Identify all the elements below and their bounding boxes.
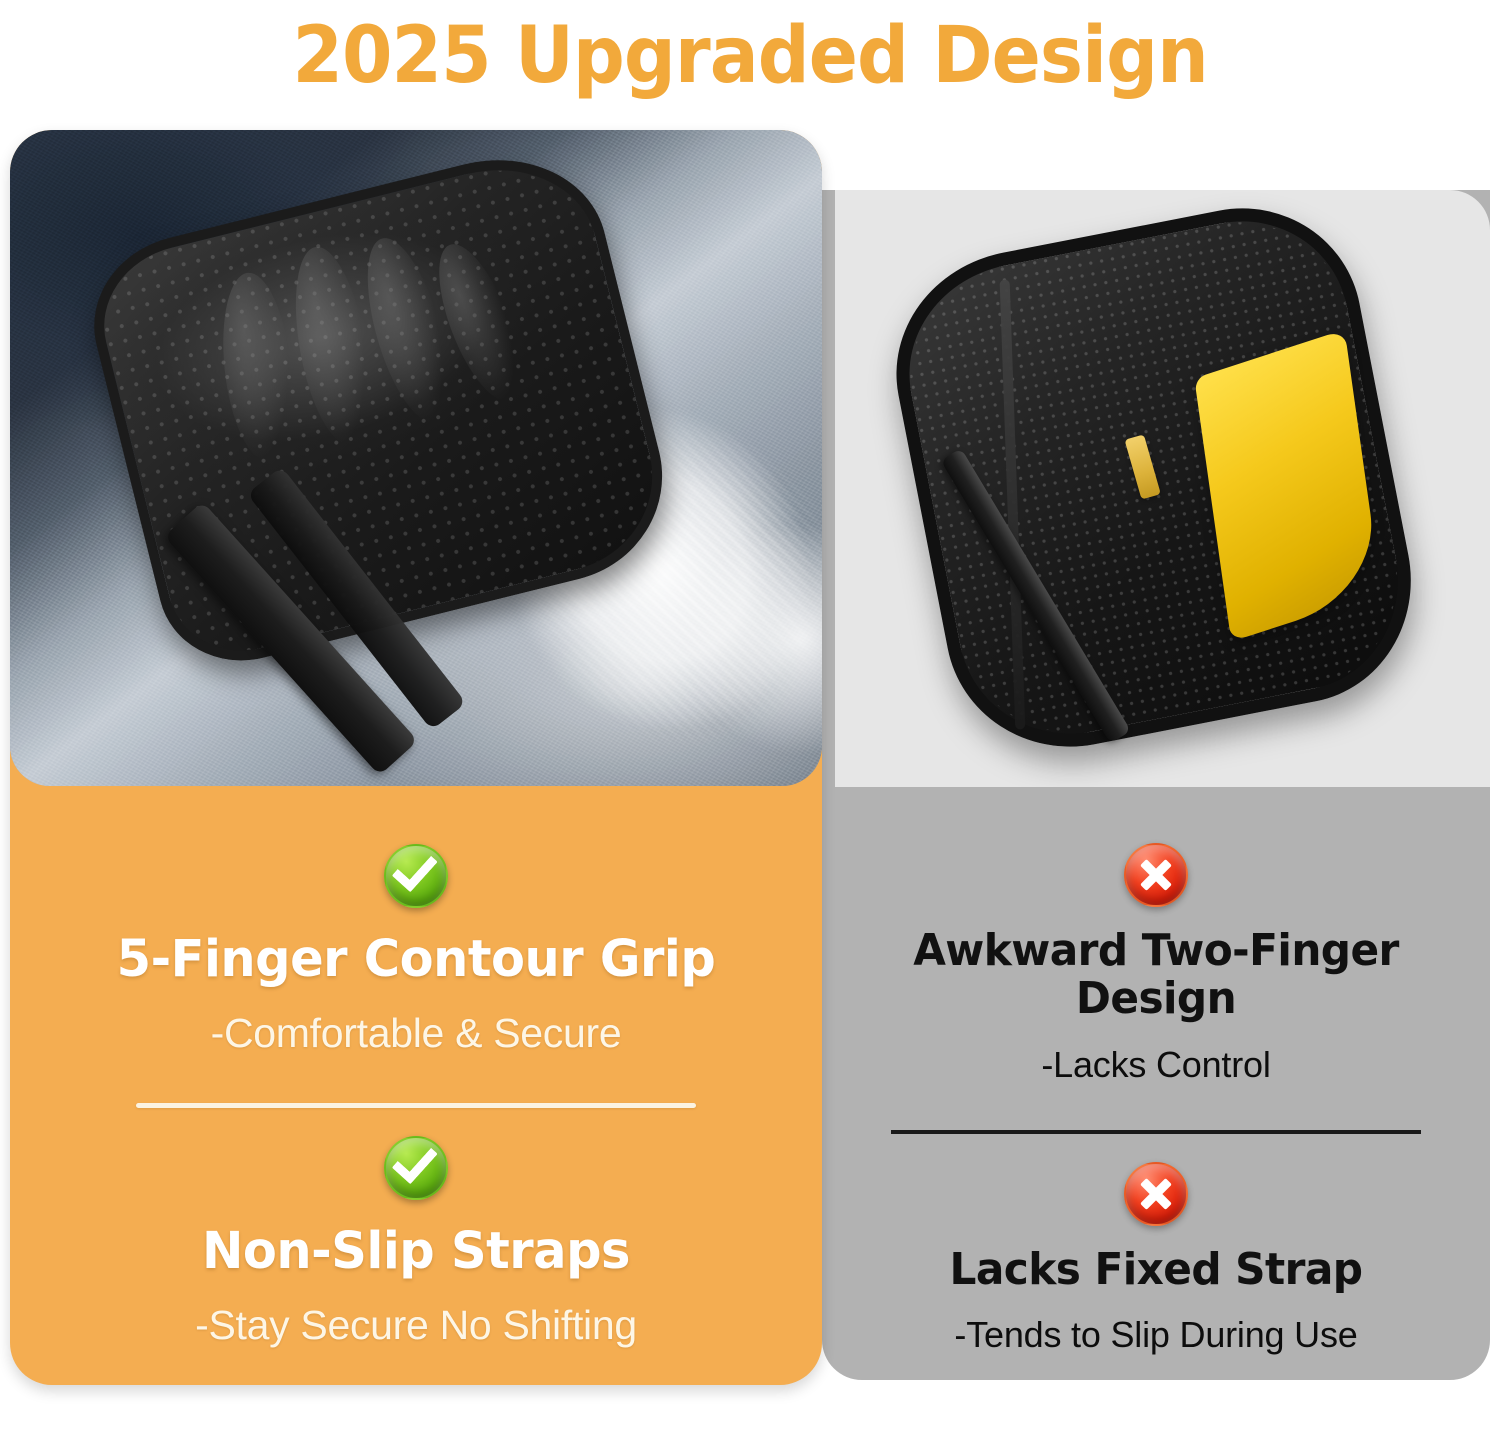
good-divider — [136, 1103, 696, 1108]
good-feature-1-headline: 5-Finger Contour Grip — [75, 932, 758, 988]
good-feature-1-subline: -Comfortable & Secure — [64, 1010, 768, 1057]
check-circle-icon — [384, 844, 448, 908]
bad-feature-2-subline: -Tends to Slip During Use — [856, 1314, 1456, 1356]
page-title: 2025 Upgraded Design — [292, 11, 1207, 101]
good-feature-list: 5-Finger Contour Grip -Comfortable & Sec… — [10, 786, 822, 1385]
good-feature-2-subline: -Stay Secure No Shifting — [64, 1302, 768, 1349]
check-circle-icon — [384, 1136, 448, 1200]
bad-feature-1: Awkward Two-Finger Design -Lacks Control — [856, 843, 1456, 1086]
bad-feature-list: Awkward Two-Finger Design -Lacks Control… — [822, 787, 1490, 1380]
good-product-photo — [10, 130, 822, 786]
good-product-panel: 5-Finger Contour Grip -Comfortable & Sec… — [10, 130, 822, 1385]
bad-product-photo — [835, 190, 1490, 787]
bad-feature-2-headline: Lacks Fixed Strap — [868, 1246, 1444, 1294]
good-feature-2-headline: Non-Slip Straps — [75, 1224, 758, 1280]
bad-feature-1-headline: Awkward Two-Finger Design — [868, 927, 1444, 1024]
bad-feature-2: Lacks Fixed Strap -Tends to Slip During … — [856, 1162, 1456, 1356]
x-circle-icon — [1124, 843, 1188, 907]
two-finger-pad — [876, 190, 1433, 768]
bad-feature-1-subline: -Lacks Control — [856, 1044, 1456, 1086]
bad-divider — [891, 1130, 1421, 1134]
good-feature-2: Non-Slip Straps -Stay Secure No Shifting — [64, 1136, 768, 1349]
x-circle-icon — [1124, 1162, 1188, 1226]
page-title-bar: 2025 Upgraded Design — [0, 0, 1500, 112]
good-feature-1: 5-Finger Contour Grip -Comfortable & Sec… — [64, 844, 768, 1057]
infographic-root: 2025 Upgraded Design — [0, 0, 1500, 1448]
